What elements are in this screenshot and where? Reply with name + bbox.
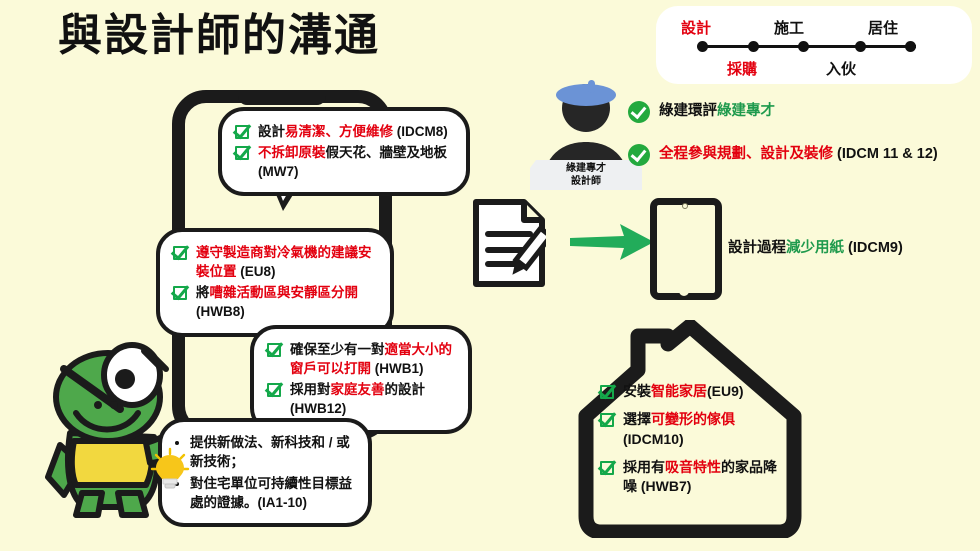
document-with-pencil-icon bbox=[472, 198, 546, 288]
checkbox-icon bbox=[173, 285, 190, 302]
bubble-item-text: 設計易清潔、方便維修 (IDCM8) bbox=[258, 122, 453, 141]
list-item: 綠建環評綠建專才 bbox=[628, 100, 980, 123]
list-item-text: 採用有吸音特性的家品降噪 (HWB7) bbox=[623, 458, 790, 497]
timeline-label-living: 居住 bbox=[868, 17, 898, 38]
checkbox-icon bbox=[600, 412, 617, 429]
bubble-item: 不拆卸原裝假天花、牆壁及地板 (MW7) bbox=[235, 143, 453, 181]
checkbox-icon bbox=[235, 145, 252, 162]
checkbox-icon bbox=[600, 460, 617, 477]
checkbox-icon bbox=[173, 245, 190, 262]
smartphone-notch-icon bbox=[238, 90, 326, 105]
list-item: 採用有吸音特性的家品降噪 (HWB7) bbox=[600, 458, 790, 497]
timeline-label-construction: 施工 bbox=[774, 17, 804, 38]
tablet-home-button-icon bbox=[679, 286, 689, 296]
green-credentials-list: 綠建環評綠建專才 全程參與規劃、設計及裝修 (IDCM 11 & 12) bbox=[628, 100, 980, 186]
list-item: 安裝智能家居(EU9) bbox=[600, 382, 790, 401]
checkbox-icon bbox=[235, 124, 252, 141]
circle-check-icon bbox=[628, 144, 650, 166]
speech-bubble-4: 提供新做法、新科技和 / 或新技術； 對住宅單位可持續性目標益處的證據。(IA1… bbox=[158, 418, 372, 527]
list-item: 選擇可變形的傢俱 (IDCM10) bbox=[600, 410, 790, 449]
house-feature-list: 安裝智能家居(EU9) 選擇可變形的傢俱 (IDCM10) 採用有吸音特性的家品… bbox=[600, 382, 790, 506]
timeline-label-moveIn: 入伙 bbox=[826, 58, 856, 79]
bubble-item: 採用對家庭友善的設計 (HWB12) bbox=[267, 380, 455, 418]
bubble-item: 將嘈雜活動區與安靜區分開 (HWB8) bbox=[173, 283, 377, 321]
checkbox-icon bbox=[267, 382, 284, 399]
timeline-label-design: 設計 bbox=[681, 17, 711, 38]
paperless-caption: 設計過程減少用紙 (IDCM9) bbox=[728, 236, 903, 257]
timeline-dot bbox=[798, 41, 809, 52]
list-item-text: 選擇可變形的傢俱 (IDCM10) bbox=[623, 410, 790, 449]
bullet-list: 提供新做法、新科技和 / 或新技術； 對住宅單位可持續性目標益處的證據。(IA1… bbox=[175, 432, 355, 513]
page-title: 與設計師的溝通 bbox=[58, 14, 380, 58]
bubble-item-text: 將嘈雜活動區與安靜區分開 (HWB8) bbox=[196, 283, 377, 321]
bubble-item: 確保至少有一對適當大小的窗戶可以打開 (HWB1) bbox=[267, 340, 455, 378]
timeline-dot bbox=[905, 41, 916, 52]
tablet-device-icon bbox=[650, 198, 722, 300]
bubble-item-text: 確保至少有一對適當大小的窗戶可以打開 (HWB1) bbox=[290, 340, 455, 378]
timeline-label-procurement: 採購 bbox=[727, 58, 757, 79]
timeline-dot bbox=[697, 41, 708, 52]
infographic-canvas: 與設計師的溝通 設計易清潔、方便維修 (IDC bbox=[0, 0, 980, 551]
list-item: 對住宅單位可持續性目標益處的證據。(IA1-10) bbox=[190, 473, 355, 513]
designer-banner: 綠建專才 設計師 bbox=[530, 160, 642, 190]
list-item-text: 綠建環評綠建專才 bbox=[659, 100, 775, 121]
lightbulb-icon bbox=[150, 447, 190, 491]
list-item: 全程參與規劃、設計及裝修 (IDCM 11 & 12) bbox=[628, 143, 980, 166]
green-arrow-icon bbox=[570, 222, 654, 262]
speech-bubble-2: 遵守製造商對冷氣機的建議安裝位置 (EU8) 將嘈雜活動區與安靜區分開 (HWB… bbox=[156, 228, 394, 337]
bubble-item-text: 不拆卸原裝假天花、牆壁及地板 (MW7) bbox=[258, 143, 453, 181]
bubble-item-text: 遵守製造商對冷氣機的建議安裝位置 (EU8) bbox=[196, 243, 377, 281]
designer-banner-line1: 綠建專才 bbox=[530, 162, 642, 175]
timeline-dot bbox=[748, 41, 759, 52]
circle-check-icon bbox=[628, 101, 650, 123]
list-item-text: 全程參與規劃、設計及裝修 (IDCM 11 & 12) bbox=[659, 143, 938, 164]
bubble-item-text: 採用對家庭友善的設計 (HWB12) bbox=[290, 380, 455, 418]
list-item: 提供新做法、新科技和 / 或新技術； bbox=[190, 432, 355, 472]
timeline-dot bbox=[855, 41, 866, 52]
speech-bubble-1: 設計易清潔、方便維修 (IDCM8) 不拆卸原裝假天花、牆壁及地板 (MW7) bbox=[218, 107, 470, 196]
bubble-item: 遵守製造商對冷氣機的建議安裝位置 (EU8) bbox=[173, 243, 377, 281]
designer-banner-line2: 設計師 bbox=[530, 175, 642, 188]
tablet-camera-icon bbox=[682, 203, 688, 209]
checkbox-icon bbox=[600, 384, 617, 401]
list-item-text: 安裝智能家居(EU9) bbox=[623, 382, 744, 401]
checkbox-icon bbox=[267, 342, 284, 359]
bubble-item: 設計易清潔、方便維修 (IDCM8) bbox=[235, 122, 453, 141]
